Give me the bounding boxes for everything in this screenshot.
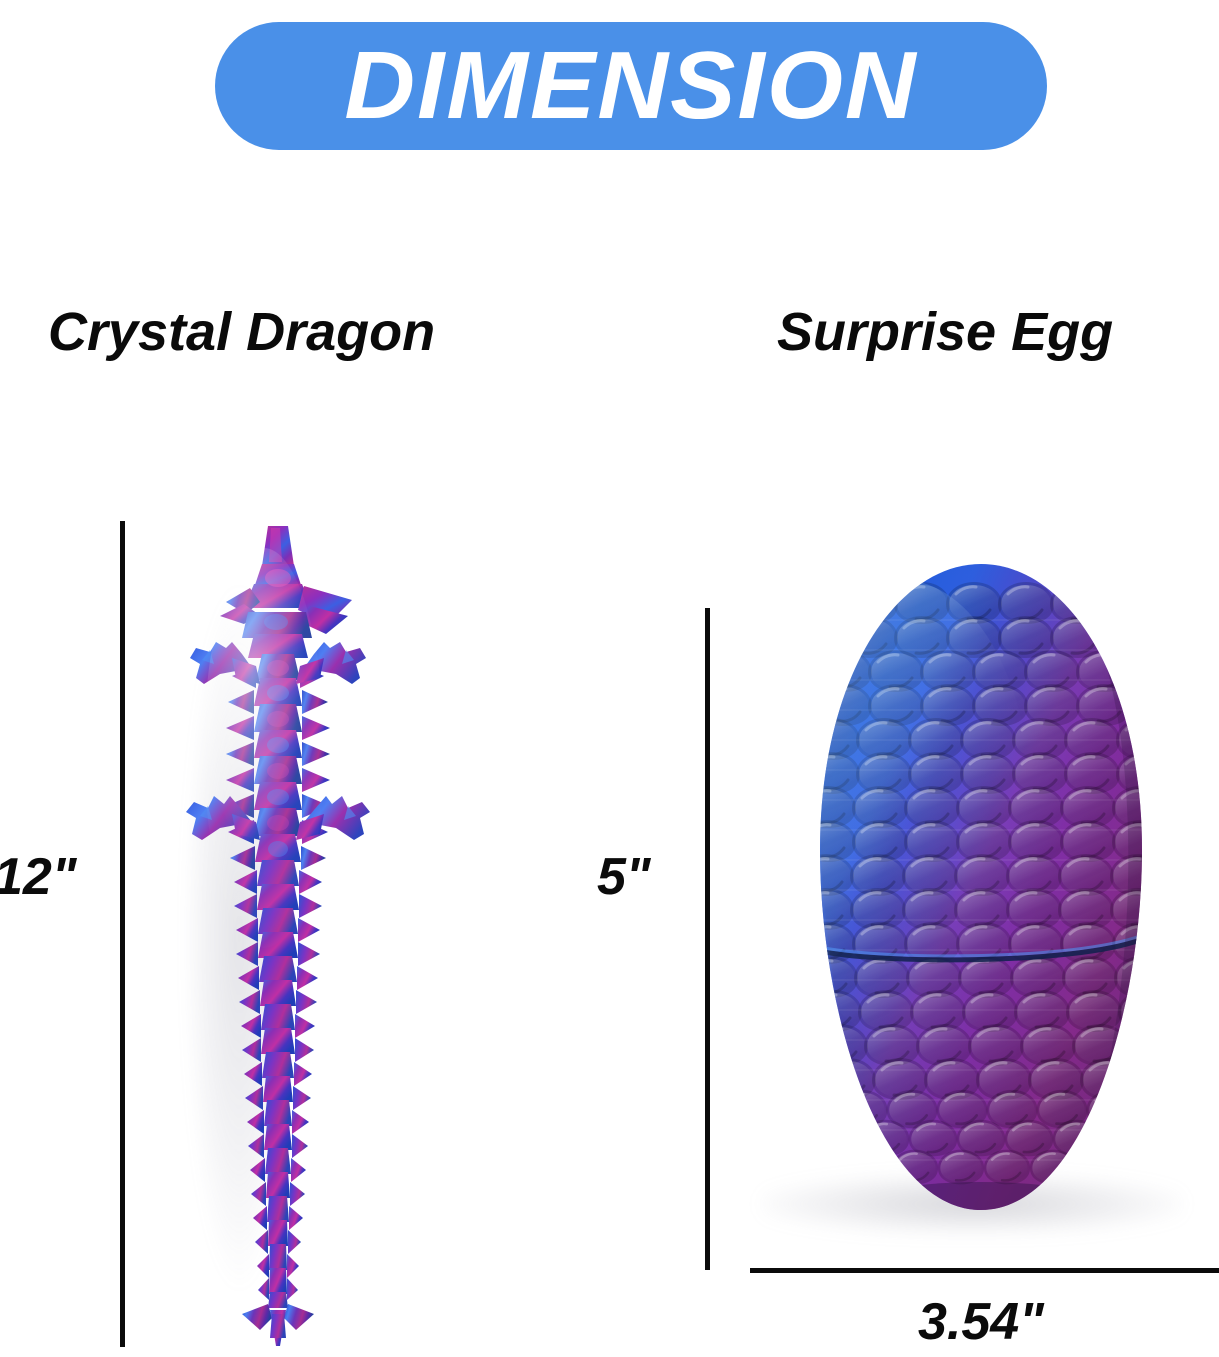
banner-title: DIMENSION bbox=[344, 38, 917, 134]
egg-width-value: 3.54" bbox=[918, 1296, 1044, 1348]
dragon-tail-fin bbox=[242, 1292, 314, 1346]
product-label-crystal-dragon: Crystal Dragon bbox=[48, 305, 435, 359]
surprise-egg-image bbox=[742, 560, 1219, 1272]
dimension-banner: DIMENSION bbox=[215, 22, 1047, 150]
crystal-dragon-image bbox=[176, 518, 376, 1350]
dragon-height-value: 12" bbox=[0, 851, 77, 903]
egg-height-value: 5" bbox=[597, 851, 651, 903]
egg-height-measure-line bbox=[705, 608, 710, 1270]
dragon-height-measure-line bbox=[120, 521, 125, 1347]
product-label-surprise-egg: Surprise Egg bbox=[777, 305, 1113, 359]
crystal-dragon-icon bbox=[176, 518, 376, 1350]
dragon-scale-egg-icon bbox=[742, 560, 1219, 1272]
